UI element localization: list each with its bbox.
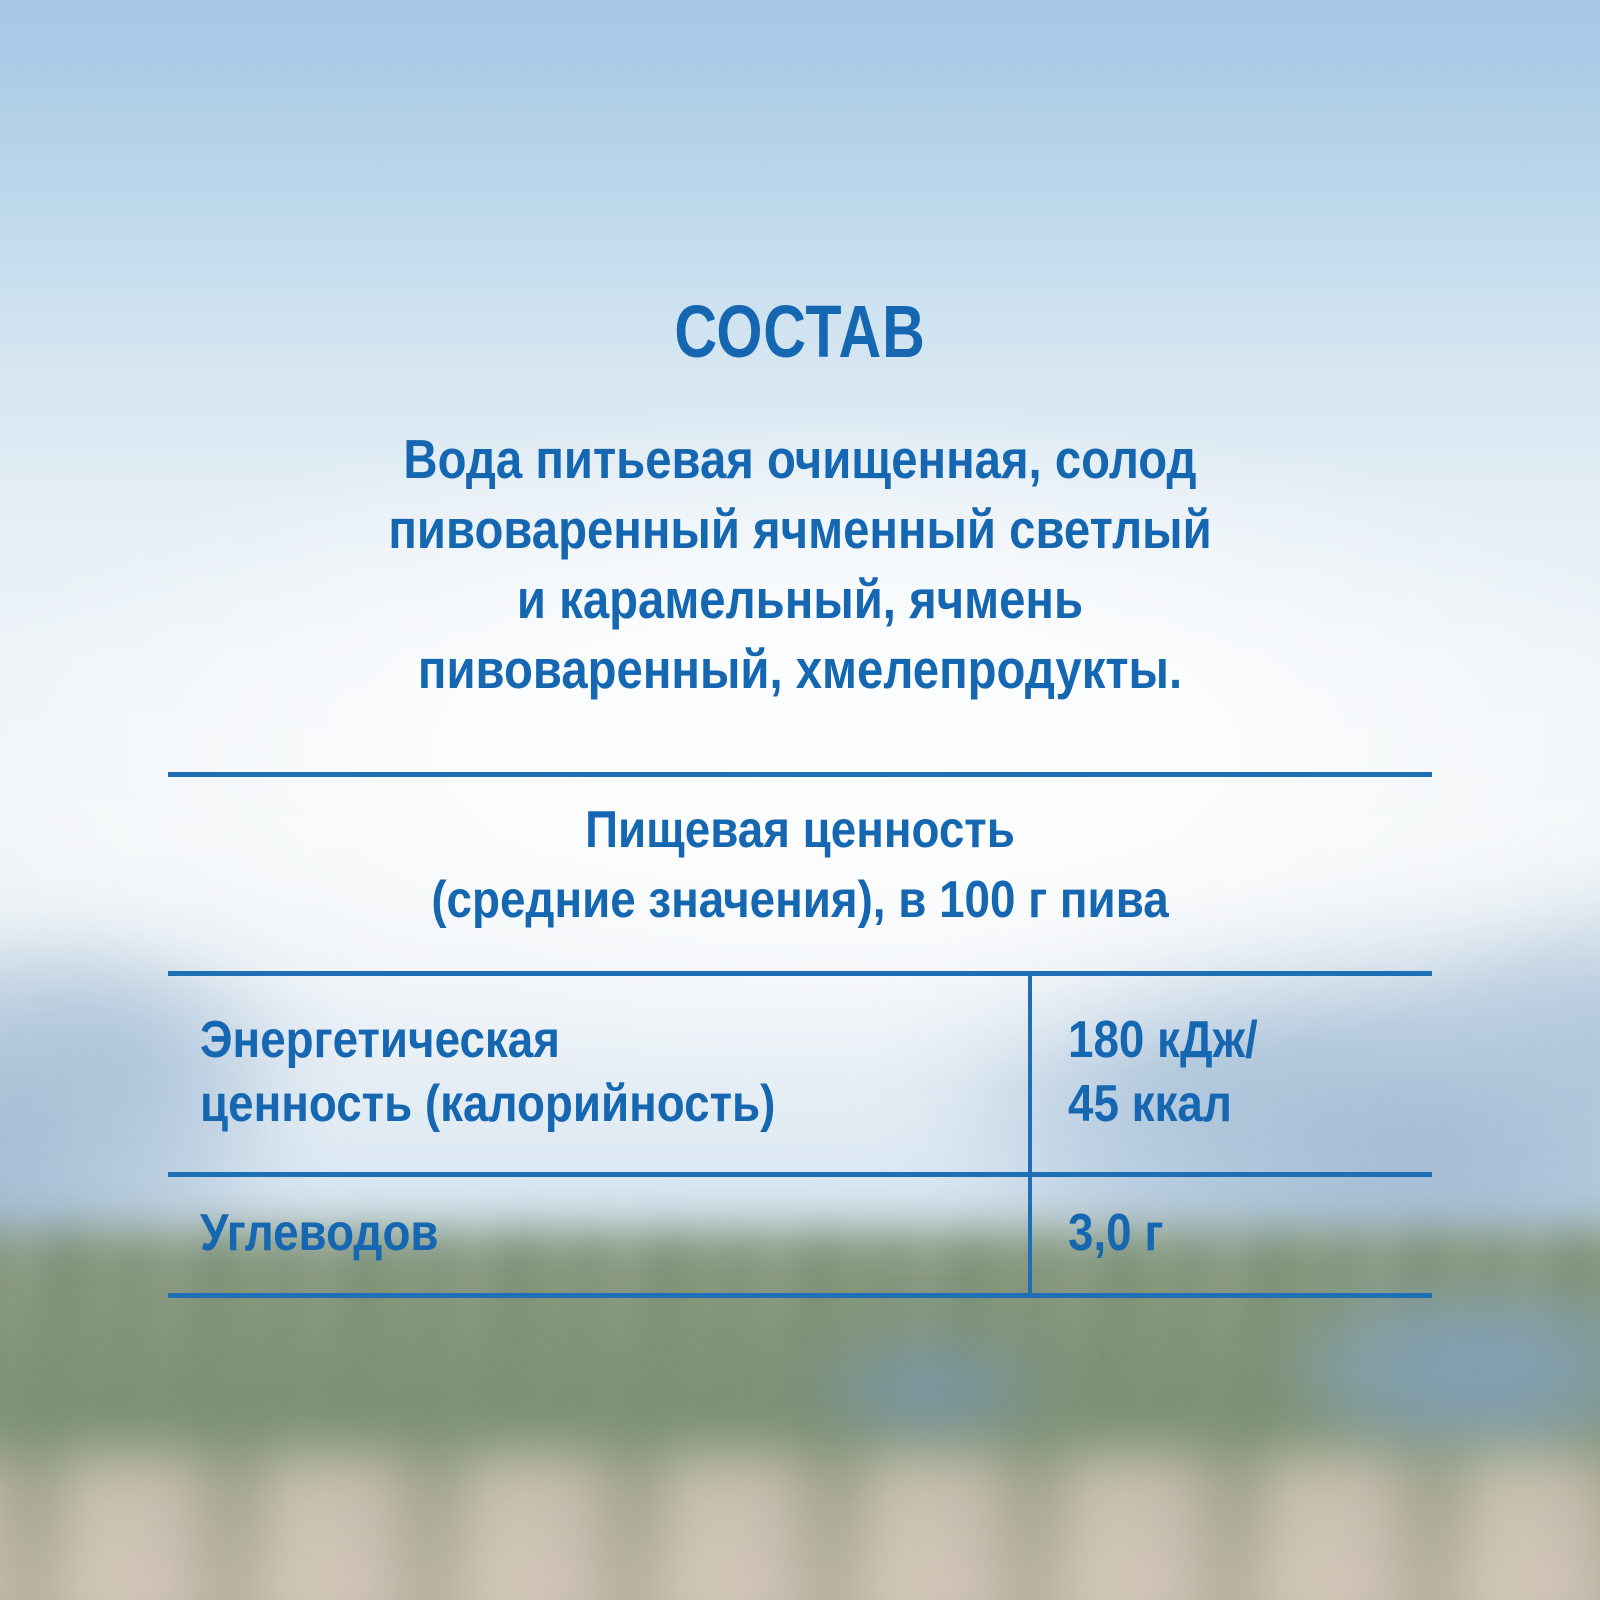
table-cell-label: Углеводов [168, 1172, 1028, 1293]
nutrition-heading-line: (средние значения), в 100 г пива [244, 865, 1356, 935]
cell-line: Энергетическая [200, 1008, 775, 1072]
cell-line: 45 ккал [1068, 1072, 1258, 1136]
cell-line: 3,0 г [1068, 1201, 1163, 1265]
ingredients-line: и карамельный, ячмень [256, 564, 1343, 634]
page-title: СОСТАВ [294, 295, 1305, 369]
table-row: Энергетическая ценность (калорийность) 1… [168, 971, 1432, 1172]
nutrition-heading: Пищевая ценность (средние значения), в 1… [168, 795, 1432, 935]
table-bottom-border [168, 1293, 1432, 1298]
table-cell-value: 3,0 г [1028, 1172, 1432, 1293]
table-cell-value: 180 кДж/ 45 ккал [1028, 971, 1432, 1172]
ingredients-line: Вода питьевая очищенная, солод [256, 424, 1343, 494]
content-column: СОСТАВ Вода питьевая очищенная, солод пи… [168, 0, 1432, 1600]
ingredients-line: пивоваренный, хмелепродукты. [256, 634, 1343, 704]
ingredients-line: пивоваренный ячменный светлый [256, 494, 1343, 564]
cell-line: 180 кДж/ [1068, 1008, 1258, 1072]
nutrition-heading-line: Пищевая ценность [244, 795, 1356, 865]
cell-line: Углеводов [200, 1201, 439, 1265]
table-cell-label: Энергетическая ценность (калорийность) [168, 971, 1028, 1172]
table-row: Углеводов 3,0 г [168, 1172, 1432, 1293]
ingredients-text: Вода питьевая очищенная, солод пивоварен… [168, 424, 1432, 704]
cell-line: ценность (калорийность) [200, 1072, 775, 1136]
label-panel: СОСТАВ Вода питьевая очищенная, солод пи… [0, 0, 1600, 1600]
divider-above-nutrition [168, 772, 1432, 777]
